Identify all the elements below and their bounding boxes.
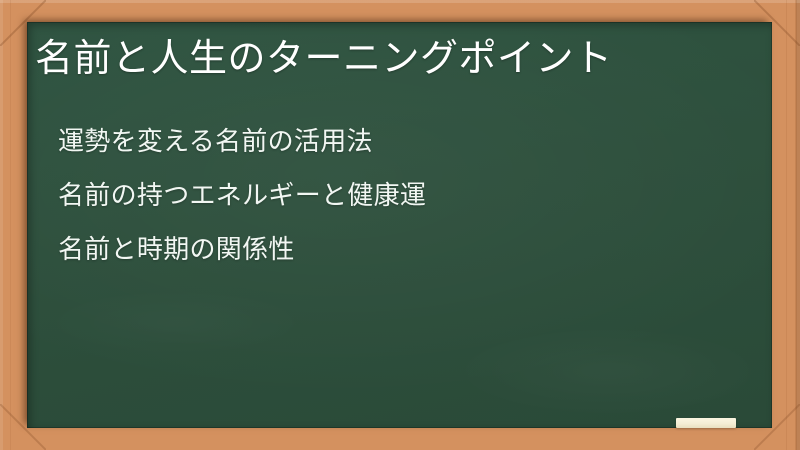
wood-grain-line — [795, 0, 797, 450]
list-item: 名前の持つエネルギーと健康運 — [58, 168, 426, 222]
slide-content: 名前と人生のターニングポイント 運勢を変える名前の活用法 名前の持つエネルギーと… — [27, 22, 772, 428]
list-item: 運勢を変える名前の活用法 — [58, 114, 426, 168]
list-item: 名前と時期の関係性 — [58, 222, 426, 276]
chalk-stick-icon — [676, 418, 736, 428]
chalkboard-surface: 名前と人生のターニングポイント 運勢を変える名前の活用法 名前の持つエネルギーと… — [27, 22, 772, 428]
blackboard-slide: 名前と人生のターニングポイント 運勢を変える名前の活用法 名前の持つエネルギーと… — [0, 0, 800, 450]
wood-grain-line — [786, 0, 787, 450]
wood-grain-line — [10, 0, 11, 450]
bullet-list: 運勢を変える名前の活用法 名前の持つエネルギーと健康運 名前と時期の関係性 — [58, 114, 426, 276]
page-title: 名前と人生のターニングポイント — [35, 33, 613, 85]
